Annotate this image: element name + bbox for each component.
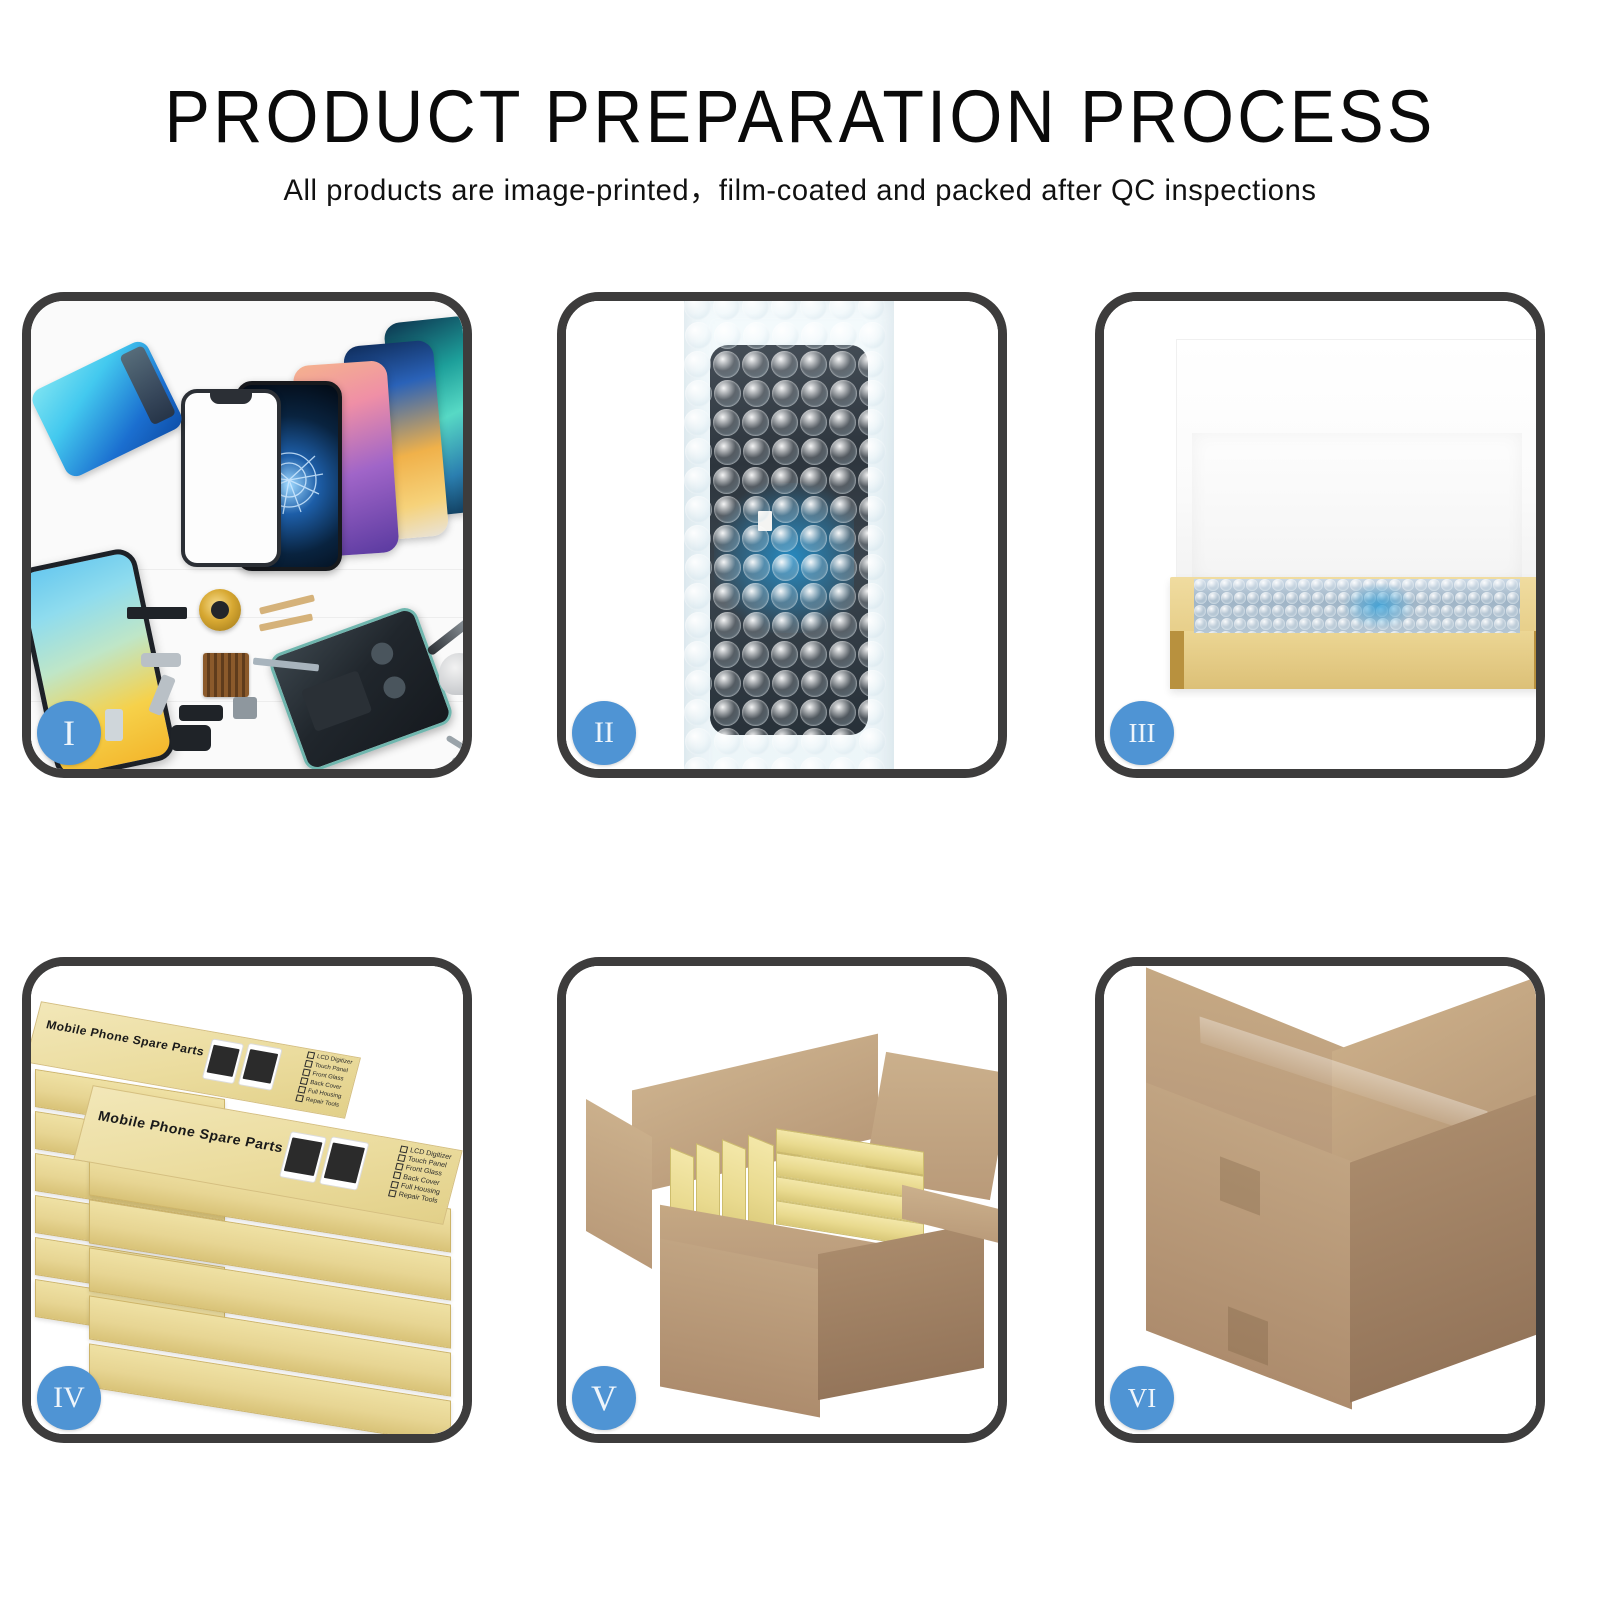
bubble [1286,618,1298,630]
open-carton-scene [566,966,998,1434]
bubble [1493,631,1505,633]
bubble [1259,605,1271,617]
bubble [859,380,886,407]
bubble [713,301,740,320]
bubble [1429,592,1441,604]
bubble [742,583,769,610]
bubble [1207,579,1219,591]
bubble [1234,618,1246,630]
bubble [1416,618,1428,630]
tempered-glass-protector [181,389,281,567]
bubble [742,525,769,552]
bubble [829,757,856,769]
bubble [1324,605,1336,617]
box-screen-thumb-f1 [279,1131,327,1183]
step-5-image [566,966,998,1434]
mailer-tray-face [1170,631,1536,689]
bubble [1220,605,1232,617]
bubble [1441,579,1453,591]
bubble [1428,605,1440,617]
bubble [1455,618,1467,630]
bubble [1481,592,1493,604]
bubble [1455,592,1467,604]
bubble [1299,618,1311,630]
bubble [771,351,798,378]
bubble [1234,592,1246,604]
bubble [1233,579,1245,591]
bubble [1272,631,1284,633]
bubble [1273,618,1285,630]
bubble [1272,579,1284,591]
process-step-panel-3: III [1095,292,1545,778]
bubble [1298,579,1310,591]
bubble [1207,605,1219,617]
bubble [1467,605,1479,617]
bubble [1442,618,1454,630]
bubble [859,612,886,639]
bubble [1454,579,1466,591]
phone-parts-collage-scene [31,301,463,769]
bubble [1208,618,1220,630]
bubble [1311,631,1323,633]
bubble [685,496,712,523]
bubble [801,322,828,349]
bubble [1520,618,1521,630]
bubble [713,583,740,610]
bubble [1494,618,1506,630]
bubble [742,409,769,436]
bubble [1246,605,1258,617]
foam-insert [1192,433,1522,583]
bubble [829,351,856,378]
bubble [859,496,886,523]
bubble [801,612,828,639]
bubble [800,699,827,726]
bubble [685,380,712,407]
bubble [800,467,827,494]
bubble [1507,618,1519,630]
process-step-panel-2: II [557,292,1007,778]
bubble [1233,605,1245,617]
process-step-panel-4: Mobile Phone Spare Parts LCD DigitizerTo… [22,957,472,1443]
carton-side-wall [818,1222,984,1400]
bubble [772,380,799,407]
bubble [858,641,885,668]
bubble [742,757,769,769]
step-badge-6: VI [1110,1366,1174,1430]
bubble [1272,605,1284,617]
step-1-image [31,301,463,769]
bubble [771,583,798,610]
bubble-wrap-scene [566,301,998,769]
step-badge-2: II [572,701,636,765]
bubble [859,322,886,349]
bubble [684,301,711,320]
sealed-carton-scene [1104,966,1536,1434]
bubble [1195,592,1207,604]
bubble [1480,631,1492,633]
bubble [1493,579,1505,591]
bubble-wrap-sheet [684,301,894,769]
box-screen-thumb-b1 [202,1038,244,1084]
bubble [858,583,885,610]
step-badge-3: III [1110,701,1174,765]
bubble [1233,631,1245,633]
bubble [684,351,711,378]
bubble [771,525,798,552]
bubble [1480,579,1492,591]
bubble [1493,605,1505,617]
bubble [801,496,828,523]
stacked-boxes-scene: Mobile Phone Spare Parts LCD DigitizerTo… [31,966,463,1434]
bubble [771,757,798,769]
bubble [743,438,770,465]
bubble [1506,605,1518,617]
bubble [830,554,857,581]
bubble [801,554,828,581]
bubble [743,612,770,639]
bubble [859,670,886,697]
connector-part [141,653,181,667]
bubble [1194,605,1206,617]
bubble [801,670,828,697]
bubble [771,301,798,320]
pry-tool-icon [426,615,463,657]
wrapped-screen-in-tray [1194,579,1520,633]
page-subtitle: All products are image-printed，film-coat… [24,156,1576,208]
mailer-tray-edge-right [1534,631,1536,689]
bubble [1195,618,1207,630]
bubble [1285,605,1297,617]
step-6-image [1104,966,1536,1434]
bubble [1247,618,1259,630]
bubble [772,496,799,523]
box-checklist-back: LCD DigitizerTouch PanelFront GlassBack … [294,1051,353,1111]
bubble [714,322,741,349]
bubble [829,301,856,320]
bubble [829,583,856,610]
bubble [743,496,770,523]
bubble [801,438,828,465]
bubble [684,467,711,494]
vibration-motor [179,705,223,721]
bubble [685,728,712,755]
bubble [1312,592,1324,604]
bubble [858,699,885,726]
process-step-grid: I [22,292,1578,1448]
bubble [685,612,712,639]
bubble-overlay [684,301,894,769]
bubble [1337,631,1349,633]
step-badge-4: IV [37,1366,101,1430]
bubble [1480,605,1492,617]
bubble [1325,592,1337,604]
bubble [858,301,885,320]
camera-module [233,697,257,719]
bubble [685,322,712,349]
bubble [1429,618,1441,630]
bubble [1468,618,1480,630]
sim-tray [105,709,123,741]
bubble [1285,631,1297,633]
bubble [743,670,770,697]
bubble [1312,618,1324,630]
bubble [1259,631,1271,633]
screwdriver-bit [445,735,463,754]
bubble [1207,631,1219,633]
bubble [685,438,712,465]
bubble [829,525,856,552]
bubble [1441,605,1453,617]
bubble [713,351,740,378]
bubble [1324,579,1336,591]
open-mailer-scene [1104,301,1536,769]
bubble [714,496,741,523]
process-step-panel-1: I [22,292,472,778]
bubble [858,467,885,494]
bubble [1260,592,1272,604]
bubble [743,554,770,581]
step-3-image [1104,301,1536,769]
bubble [743,380,770,407]
cleaning-brush [439,653,463,695]
bubble [742,351,769,378]
bubble [772,554,799,581]
bubble [771,699,798,726]
bubble [1481,618,1493,630]
page-header: PRODUCT PREPARATION PROCESS All products… [0,0,1600,208]
bubble [1519,579,1520,591]
bubble [1376,631,1388,633]
bubble [1260,618,1272,630]
bubble [1221,618,1233,630]
mailer-tray-edge-left [1170,631,1184,689]
bubble [800,525,827,552]
bubble [1519,631,1520,633]
bubble [859,554,886,581]
bubble [713,525,740,552]
bubble [743,322,770,349]
bubble [800,757,827,769]
ic-chip [203,653,249,697]
bubble [859,438,886,465]
bubble [1194,631,1206,633]
bubble [1416,592,1428,604]
bubble [771,409,798,436]
bubble [1389,631,1401,633]
bubble [742,699,769,726]
bubble [1506,631,1518,633]
bubble [1402,631,1414,633]
bubble [714,554,741,581]
bubble [801,380,828,407]
bubble [1454,631,1466,633]
bubble [1220,631,1232,633]
bubble [713,467,740,494]
bubble [829,699,856,726]
bubble [1454,605,1466,617]
bubble [772,322,799,349]
bubble [830,438,857,465]
process-step-panel-6: VI [1095,957,1545,1443]
bubble [772,728,799,755]
wireless-charging-coil [199,589,241,631]
bubble [685,554,712,581]
bubble [858,757,885,769]
bubble [800,351,827,378]
bubble [713,409,740,436]
step-badge-5: V [572,1366,636,1430]
bubble [1428,579,1440,591]
bubble [1286,592,1298,604]
bubble [684,525,711,552]
bubble [1520,592,1521,604]
bubble [1467,631,1479,633]
bubble [858,525,885,552]
bubble [685,670,712,697]
bubble [684,641,711,668]
bubble [1298,605,1310,617]
bubble [1442,592,1454,604]
bubble [829,467,856,494]
bubble [800,409,827,436]
bubble [743,728,770,755]
bubble [1441,631,1453,633]
bubble [1467,579,1479,591]
bubble [800,583,827,610]
bubble [801,728,828,755]
box-brand-back: Mobile Phone Spare Parts [45,1017,206,1058]
bubble [1325,618,1337,630]
bubble [771,641,798,668]
bubble [858,409,885,436]
bubble [684,757,711,769]
step-4-image: Mobile Phone Spare Parts LCD DigitizerTo… [31,966,463,1434]
bubble [829,641,856,668]
bubble [1415,631,1427,633]
bubble [1220,579,1232,591]
bubble [1350,631,1362,633]
bubble [684,699,711,726]
bubble [1246,579,1258,591]
bubble [1468,592,1480,604]
bubble [830,322,857,349]
bubble [684,583,711,610]
bubble [1285,579,1297,591]
bubble [830,728,857,755]
bubble [1363,631,1375,633]
step-badge-1: I [37,701,101,765]
bubble [714,728,741,755]
bubble [742,641,769,668]
earpiece-mesh [127,607,187,619]
bubble [714,380,741,407]
bubble [713,699,740,726]
box-screen-thumb-b2 [238,1043,283,1091]
bubble [1428,631,1440,633]
process-step-panel-5: V [557,957,1007,1443]
page-title: PRODUCT PREPARATION PROCESS [64,0,1536,156]
bubble [1299,592,1311,604]
bubble [714,438,741,465]
bubble [714,670,741,697]
box-brand-front: Mobile Phone Spare Parts [96,1107,285,1155]
bubble [1415,579,1427,591]
bubble [1494,592,1506,604]
speaker-module [171,725,211,751]
bubble [830,496,857,523]
bubble [829,409,856,436]
phone-blue-frame [31,338,186,480]
carton-front-wall [660,1238,820,1417]
bubble [830,612,857,639]
bubble [1208,592,1220,604]
bubble [800,641,827,668]
bubble [1259,579,1271,591]
bubble [859,728,886,755]
bubble [714,612,741,639]
bubble [1415,605,1427,617]
bubble [1311,605,1323,617]
bubble [1506,579,1518,591]
box-screen-thumb-f2 [319,1136,369,1191]
bubble [684,409,711,436]
bubble [1194,579,1206,591]
bubble [713,641,740,668]
bubble [713,757,740,769]
bubble [1311,579,1323,591]
bubble [1507,592,1519,604]
bubble [1221,592,1233,604]
bubble [1324,631,1336,633]
bubble [742,301,769,320]
box-checklist-front: LCD DigitizerTouch PanelFront GlassBack … [387,1144,452,1206]
flex-cable-1 [259,594,315,614]
bubble [830,670,857,697]
bubble [800,301,827,320]
bubble [1519,605,1520,617]
bubble [772,438,799,465]
bubble [1247,592,1259,604]
bubble [772,612,799,639]
step-2-image [566,301,998,769]
bubble [1246,631,1258,633]
bubble [830,380,857,407]
bubble [1298,631,1310,633]
bubble [771,467,798,494]
bubble [772,670,799,697]
bubble [858,351,885,378]
phone-back-housing [266,604,455,769]
bubble [742,467,769,494]
blue-film-highlight-small [1344,583,1414,629]
bubble [1273,592,1285,604]
